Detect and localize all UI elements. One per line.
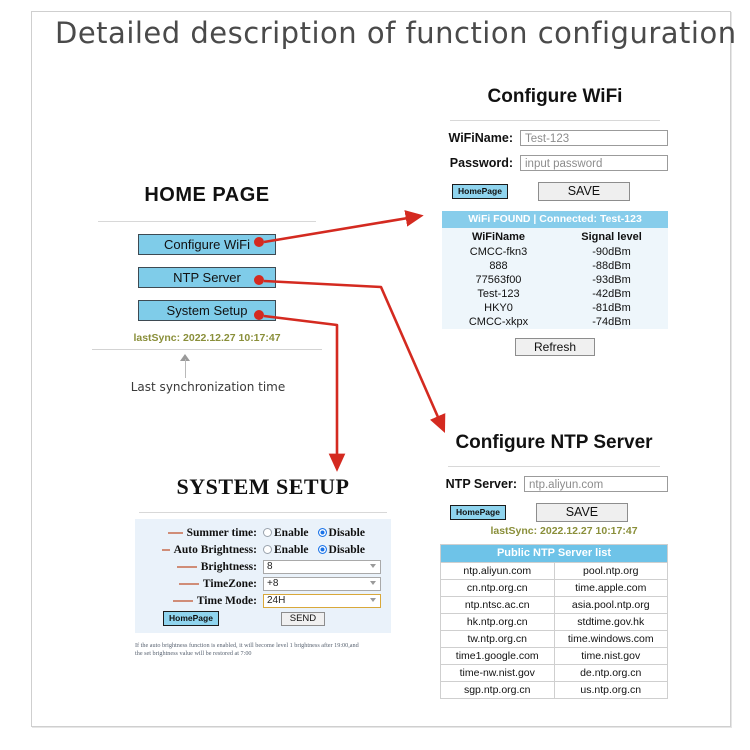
- auto-brightness-enable-radio[interactable]: Enable: [263, 544, 309, 556]
- cell-ntp-server[interactable]: time.apple.com: [555, 580, 669, 597]
- cell-signal: -88dBm: [555, 260, 668, 272]
- wifi-password-row: Password: input password: [442, 155, 668, 171]
- time-mode-value: 24H: [267, 595, 285, 606]
- home-page-title: HOME PAGE: [92, 184, 322, 207]
- table-row[interactable]: 77563f00 -93dBm: [442, 273, 668, 287]
- cell-signal: -42dBm: [555, 288, 668, 300]
- wifi-name-label: WiFiName:: [442, 131, 520, 145]
- brightness-label-wrap: Brightness:: [141, 561, 263, 573]
- home-button-ntp-server[interactable]: NTP Server: [138, 267, 276, 288]
- dash-icon: [162, 549, 170, 551]
- cell-wifiname: 77563f00: [442, 274, 555, 286]
- auto-brightness-label: Auto Brightness:: [174, 544, 257, 556]
- summer-time-label-wrap: Summer time:: [141, 527, 263, 539]
- cell-ntp-server[interactable]: time1.google.com: [440, 648, 555, 665]
- cell-ntp-server[interactable]: ntp.ntsc.ac.cn: [440, 597, 555, 614]
- wifi-name-input[interactable]: Test-123: [520, 130, 668, 146]
- home-caption: Last synchronization time: [90, 380, 326, 394]
- system-setup-panel: SYSTEM SETUP Summer time: Enable Disable: [135, 474, 391, 659]
- radio-label: Enable: [274, 527, 309, 539]
- summer-time-label: Summer time:: [187, 527, 257, 539]
- radio-label: Disable: [329, 544, 365, 556]
- radio-label: Enable: [274, 544, 309, 556]
- table-row[interactable]: sgp.ntp.org.cn us.ntp.org.cn: [440, 682, 668, 699]
- auto-brightness-radios: Enable Disable: [263, 544, 365, 556]
- timezone-value: +8: [267, 578, 278, 589]
- cell-wifiname: 888: [442, 260, 555, 272]
- cell-ntp-server[interactable]: asia.pool.ntp.org: [555, 597, 669, 614]
- cell-signal: -81dBm: [555, 302, 668, 314]
- system-setup-form: Summer time: Enable Disable Auto B: [135, 519, 391, 633]
- radio-on-icon: [318, 528, 327, 537]
- cell-wifiname: CMCC-fkn3: [442, 246, 555, 258]
- brightness-value: 8: [267, 561, 273, 572]
- auto-brightness-label-wrap: Auto Brightness:: [141, 544, 263, 556]
- cell-signal: -93dBm: [555, 274, 668, 286]
- chevron-down-icon: [370, 598, 376, 602]
- radio-on-icon: [318, 545, 327, 554]
- wifi-refresh-button[interactable]: Refresh: [515, 338, 595, 356]
- home-button-configure-wifi[interactable]: Configure WiFi: [138, 234, 276, 255]
- table-row[interactable]: HKY0 -81dBm: [442, 301, 668, 315]
- configure-wifi-title: Configure WiFi: [442, 86, 668, 108]
- table-row[interactable]: cn.ntp.org.cn time.apple.com: [440, 580, 668, 597]
- auto-brightness-row: Auto Brightness: Enable Disable: [141, 542, 385, 557]
- time-mode-select[interactable]: 24H: [263, 594, 381, 608]
- wifi-name-row: WiFiName: Test-123: [442, 130, 668, 146]
- divider: [448, 466, 660, 467]
- divider: [92, 349, 322, 350]
- home-page-panel: HOME PAGE Configure WiFi NTP Server Syst…: [92, 184, 322, 350]
- ntp-server-row: NTP Server: ntp.aliyun.com: [440, 476, 668, 492]
- column-header-signal: Signal level: [555, 231, 668, 243]
- time-mode-label: Time Mode:: [197, 595, 257, 607]
- system-setup-title: SYSTEM SETUP: [135, 474, 391, 500]
- wifi-table-columns: WiFiName Signal level: [442, 228, 668, 245]
- cell-ntp-server[interactable]: tw.ntp.org.cn: [440, 631, 555, 648]
- brightness-select[interactable]: 8: [263, 560, 381, 574]
- summer-time-disable-radio[interactable]: Disable: [318, 527, 365, 539]
- dash-icon: [179, 583, 199, 585]
- cell-wifiname: Test-123: [442, 288, 555, 300]
- cell-ntp-server[interactable]: pool.ntp.org: [555, 563, 669, 580]
- divider: [98, 221, 316, 222]
- time-mode-label-wrap: Time Mode:: [141, 595, 263, 607]
- table-row[interactable]: time-nw.nist.gov de.ntp.org.cn: [440, 665, 668, 682]
- configure-wifi-panel: Configure WiFi WiFiName: Test-123 Passwo…: [442, 86, 668, 356]
- configure-ntp-panel: Configure NTP Server NTP Server: ntp.ali…: [440, 432, 668, 699]
- cell-ntp-server[interactable]: hk.ntp.org.cn: [440, 614, 555, 631]
- table-row[interactable]: time1.google.com time.nist.gov: [440, 648, 668, 665]
- home-button-system-setup[interactable]: System Setup: [138, 300, 276, 321]
- wifi-save-button[interactable]: SAVE: [538, 182, 630, 201]
- table-row[interactable]: ntp.aliyun.com pool.ntp.org: [440, 563, 668, 580]
- system-button-row: HomePage SEND: [141, 611, 385, 626]
- ntp-server-input[interactable]: ntp.aliyun.com: [524, 476, 668, 492]
- table-row[interactable]: tw.ntp.org.cn time.windows.com: [440, 631, 668, 648]
- ntp-save-button[interactable]: SAVE: [536, 503, 628, 522]
- system-send-button[interactable]: SEND: [281, 612, 325, 626]
- configure-ntp-title: Configure NTP Server: [440, 432, 668, 454]
- cell-ntp-server[interactable]: time-nw.nist.gov: [440, 665, 555, 682]
- system-setup-note: If the auto brightness function is enabl…: [135, 642, 367, 659]
- chevron-down-icon: [370, 564, 376, 568]
- screenshot-root: Detailed description of function configu…: [0, 0, 750, 750]
- auto-brightness-disable-radio[interactable]: Disable: [318, 544, 365, 556]
- wifi-password-label: Password:: [442, 156, 520, 170]
- divider: [450, 120, 660, 121]
- callout-line: [185, 359, 186, 378]
- radio-off-icon: [263, 545, 272, 554]
- cell-ntp-server[interactable]: cn.ntp.org.cn: [440, 580, 555, 597]
- ntp-server-label: NTP Server:: [440, 477, 524, 491]
- dash-icon: [173, 600, 193, 602]
- cell-ntp-server[interactable]: time.windows.com: [555, 631, 669, 648]
- brightness-row: Brightness: 8: [141, 559, 385, 574]
- cell-ntp-server[interactable]: de.ntp.org.cn: [555, 665, 669, 682]
- cell-wifiname: HKY0: [442, 302, 555, 314]
- table-row[interactable]: hk.ntp.org.cn stdtime.gov.hk: [440, 614, 668, 631]
- cell-signal: -74dBm: [555, 316, 668, 328]
- summer-time-radios: Enable Disable: [263, 527, 365, 539]
- timezone-row: TimeZone: +8: [141, 576, 385, 591]
- cell-ntp-server[interactable]: us.ntp.org.cn: [555, 682, 669, 699]
- wifi-password-input[interactable]: input password: [520, 155, 668, 171]
- summer-time-row: Summer time: Enable Disable: [141, 525, 385, 540]
- table-row[interactable]: ntp.ntsc.ac.cn asia.pool.ntp.org: [440, 597, 668, 614]
- wifi-table-header: WiFi FOUND | Connected: Test-123: [442, 211, 668, 228]
- table-row[interactable]: CMCC-fkn3 -90dBm: [442, 245, 668, 259]
- table-row[interactable]: 888 -88dBm: [442, 259, 668, 273]
- chevron-down-icon: [370, 581, 376, 585]
- dash-icon: [168, 532, 183, 534]
- ntp-button-row: HomePage SAVE: [440, 503, 668, 522]
- cell-ntp-server[interactable]: ntp.aliyun.com: [440, 563, 555, 580]
- cell-signal: -90dBm: [555, 246, 668, 258]
- home-last-sync: lastSync: 2022.12.27 10:17:47: [92, 332, 322, 344]
- cell-ntp-server[interactable]: sgp.ntp.org.cn: [440, 682, 555, 699]
- public-ntp-server-table: Public NTP Server list ntp.aliyun.com po…: [440, 544, 668, 699]
- timezone-label: TimeZone:: [203, 578, 257, 590]
- ntp-homepage-button[interactable]: HomePage: [450, 505, 506, 520]
- radio-off-icon: [263, 528, 272, 537]
- timezone-label-wrap: TimeZone:: [141, 578, 263, 590]
- table-row[interactable]: Test-123 -42dBm: [442, 287, 668, 301]
- timezone-select[interactable]: +8: [263, 577, 381, 591]
- cell-wifiname: CMCC-xkpx: [442, 316, 555, 328]
- wifi-found-table: WiFi FOUND | Connected: Test-123 WiFiNam…: [442, 211, 668, 329]
- page-title: Detailed description of function configu…: [55, 16, 737, 50]
- wifi-button-row: HomePage SAVE: [442, 182, 668, 201]
- ntp-table-header: Public NTP Server list: [440, 544, 668, 563]
- time-mode-row: Time Mode: 24H: [141, 593, 385, 608]
- divider: [139, 512, 387, 513]
- ntp-last-sync: lastSync: 2022.12.27 10:17:47: [440, 525, 668, 537]
- cell-ntp-server[interactable]: stdtime.gov.hk: [555, 614, 669, 631]
- radio-label: Disable: [329, 527, 365, 539]
- summer-time-enable-radio[interactable]: Enable: [263, 527, 309, 539]
- column-header-wifiname: WiFiName: [442, 231, 555, 243]
- brightness-label: Brightness:: [201, 561, 257, 573]
- table-row[interactable]: CMCC-xkpx -74dBm: [442, 315, 668, 329]
- system-homepage-button[interactable]: HomePage: [163, 611, 219, 626]
- wifi-homepage-button[interactable]: HomePage: [452, 184, 508, 199]
- cell-ntp-server[interactable]: time.nist.gov: [555, 648, 669, 665]
- dash-icon: [177, 566, 197, 568]
